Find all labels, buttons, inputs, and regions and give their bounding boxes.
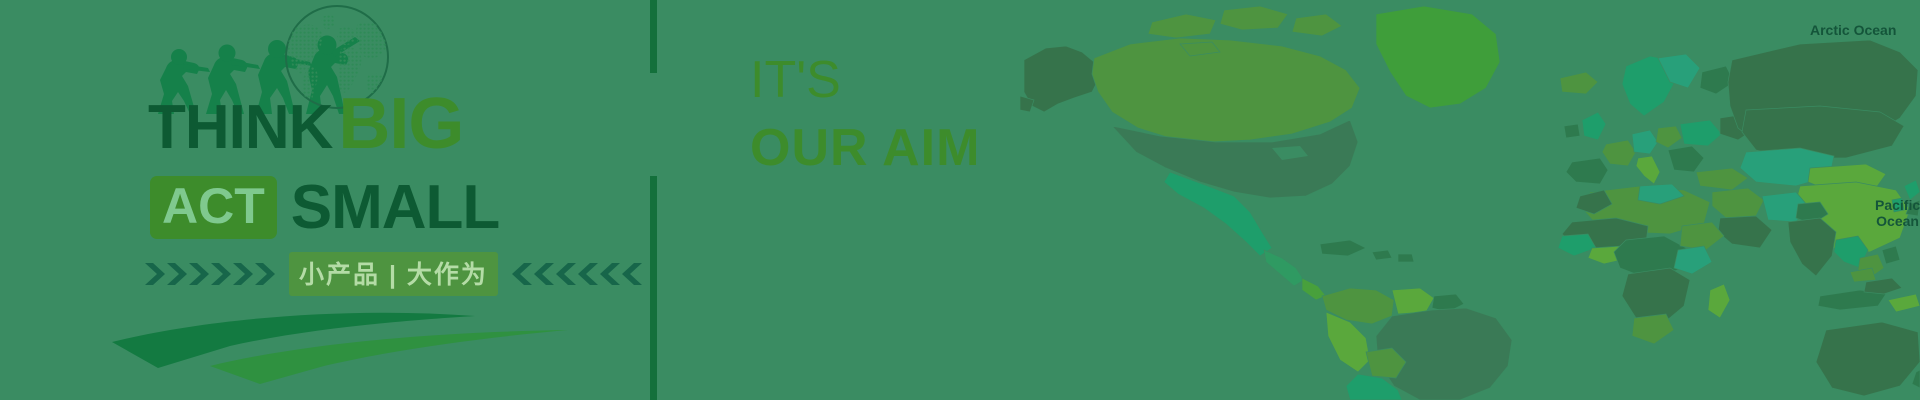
slogan-block: IT'S OUR AIM <box>750 54 980 174</box>
country-india <box>1788 218 1836 276</box>
slogan-line-2: OUR AIM <box>750 122 980 174</box>
headline-word-think: THINK <box>148 97 332 159</box>
vertical-divider-top <box>650 0 657 73</box>
slogan-line-1: IT'S <box>750 54 980 106</box>
headline-line-1: THINK BIG <box>148 88 463 160</box>
tagline-row: 小产品 | 大作为 <box>145 256 642 292</box>
country-canada <box>1092 38 1360 142</box>
country-australia <box>1816 322 1920 396</box>
promo-banner: THINK BIG ACT SMALL <box>0 0 1920 400</box>
brand-logo-block: THINK BIG ACT SMALL <box>0 0 600 400</box>
country-alaska <box>1024 46 1100 112</box>
headline-line-2: ACT SMALL <box>150 176 499 239</box>
world-map: Arctic Ocean Arctic Ocean Pacific Ocean … <box>1020 0 1920 400</box>
tagline-badge-chinese: 小产品 | 大作为 <box>289 252 498 296</box>
chevrons-right-pointing-icon <box>145 259 277 289</box>
headline-word-small: SMALL <box>291 177 500 239</box>
chevrons-left-pointing-icon <box>510 259 642 289</box>
ocean-label-arctic-west: Arctic Ocean <box>1810 22 1896 38</box>
country-greenland <box>1376 6 1500 108</box>
headline-badge-act: ACT <box>150 176 277 239</box>
brand-swoosh-graphic <box>110 296 570 400</box>
vertical-divider-bottom <box>650 176 657 400</box>
ocean-label-pacific-west: Pacific Ocean <box>1875 197 1920 229</box>
headline-word-big: BIG <box>338 88 463 160</box>
